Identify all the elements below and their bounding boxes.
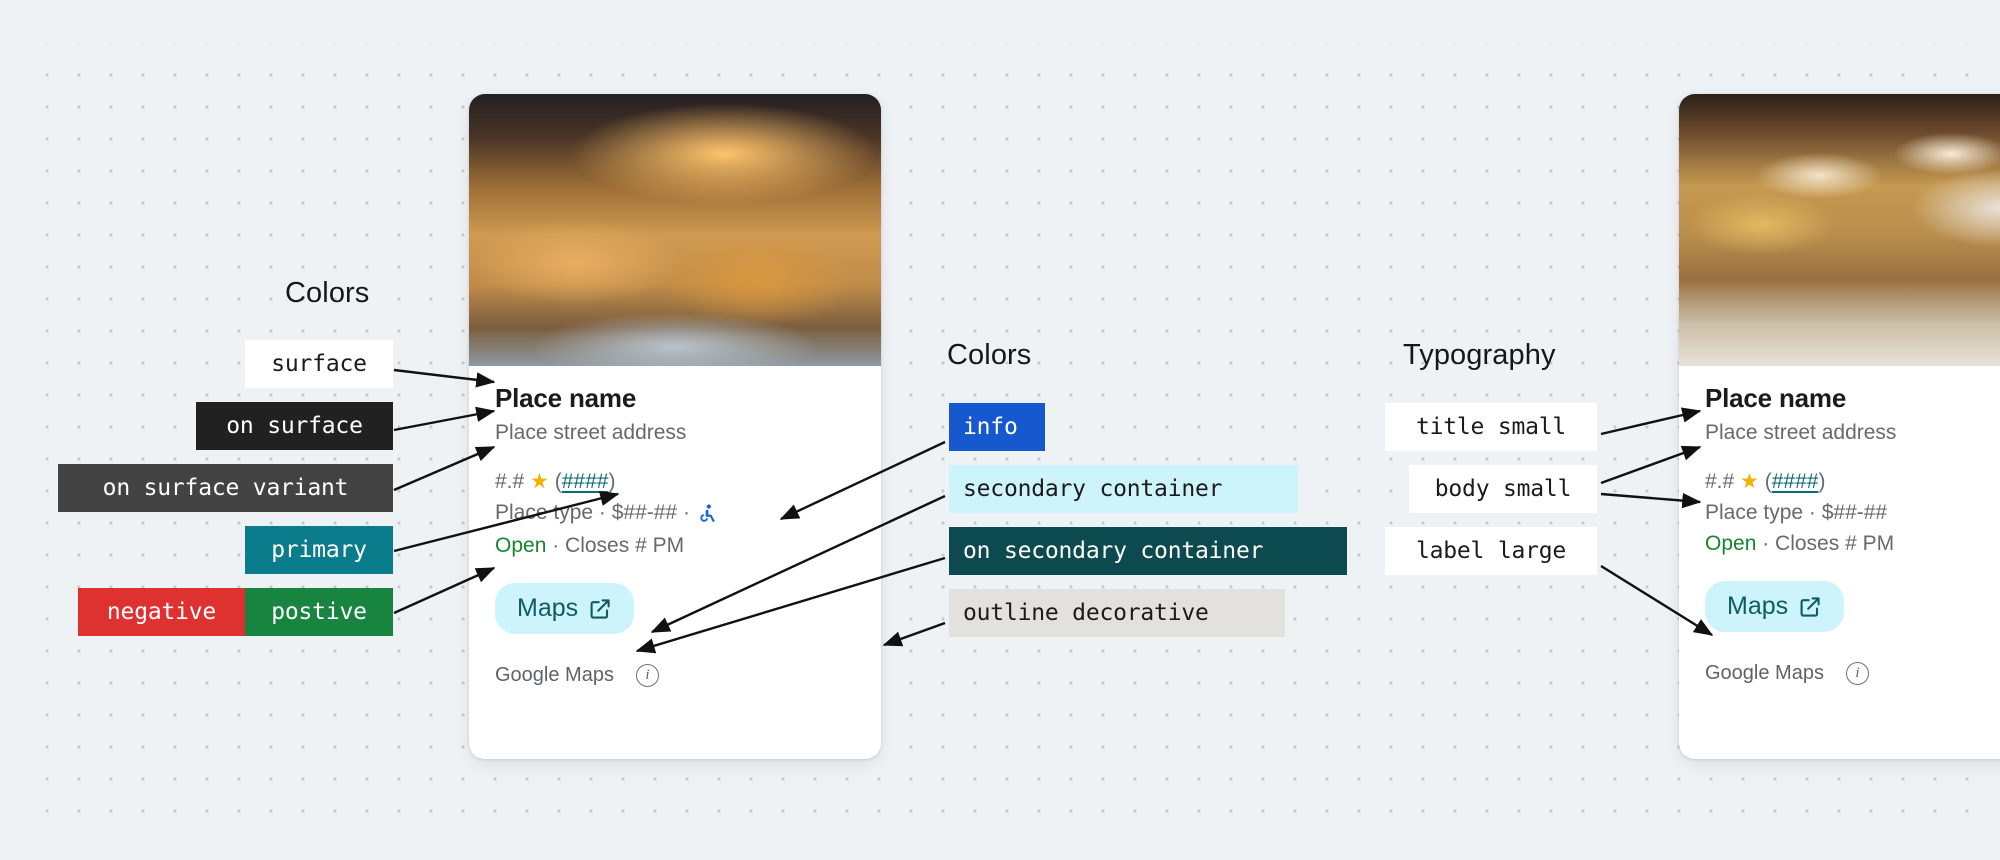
wheelchair-accessible-icon — [696, 503, 718, 526]
color-chip-outline-decorative-label: outline decorative — [963, 602, 1209, 625]
type-chip-body-small[interactable]: body small — [1409, 465, 1597, 513]
color-chip-surface[interactable]: surface — [245, 340, 393, 388]
maps-button-label: Maps — [517, 596, 578, 621]
type-chip-title-small-label: title small — [1416, 416, 1566, 439]
section-title-colors-left: Colors — [285, 277, 369, 310]
color-chip-secondary-container-label: secondary container — [963, 478, 1222, 501]
place-meta-block-right: #.# ★ (####) Place type · $##-## Open · … — [1705, 466, 2000, 559]
place-type-row: Place type · $##-## · — [495, 497, 855, 530]
color-chip-positive[interactable]: postive — [245, 588, 393, 636]
place-name-right: Place name — [1705, 384, 2000, 414]
section-title-colors-mid: Colors — [947, 339, 1031, 372]
place-card-right-photo — [1679, 94, 2000, 366]
type-chip-label-large-label: label large — [1416, 540, 1566, 563]
place-type-text-right: Place type · $##-## — [1705, 501, 1887, 524]
color-chip-positive-label: postive — [271, 601, 367, 624]
place-card-primary: Place name Place street address #.# ★ (#… — [469, 94, 881, 759]
place-type-row-right: Place type · $##-## — [1705, 497, 2000, 528]
color-chip-on-surface-variant-label: on surface variant — [103, 477, 349, 500]
rating-value: #.# — [495, 470, 524, 493]
color-chip-secondary-container[interactable]: secondary container — [949, 465, 1298, 513]
place-address: Place street address — [495, 420, 855, 445]
canvas-bleed-top — [0, 0, 2000, 44]
place-card-footer: Google Maps i — [469, 634, 881, 711]
arrow-outline-decorative — [884, 623, 945, 645]
place-card-photo — [469, 94, 881, 366]
type-chip-title-small[interactable]: title small — [1385, 403, 1597, 451]
hours-separator: · — [546, 534, 565, 557]
type-chip-body-small-label: body small — [1435, 478, 1571, 501]
color-chip-on-secondary-container[interactable]: on secondary container — [949, 527, 1347, 575]
rating-count-link-right[interactable]: #### — [1772, 470, 1819, 493]
place-name: Place name — [495, 384, 855, 414]
maps-button-right[interactable]: Maps — [1705, 581, 1844, 632]
footer-brand-label-right: Google Maps — [1705, 662, 1824, 685]
place-type-text: Place type · $##-## · — [495, 501, 690, 524]
place-hours-row-right: Open · Closes # PM — [1705, 528, 2000, 559]
place-card-right-footer: Google Maps i — [1679, 632, 2000, 709]
rating-count-wrapper-right: (####) — [1765, 470, 1826, 493]
external-link-icon-right — [1798, 595, 1822, 619]
color-chip-outline-decorative[interactable]: outline decorative — [949, 589, 1285, 637]
place-hours-row: Open · Closes # PM — [495, 530, 855, 561]
place-address-right: Place street address — [1705, 420, 2000, 445]
rating-value-right: #.# — [1705, 470, 1734, 493]
place-card-right-body: Place name Place street address #.# ★ (#… — [1679, 366, 2000, 632]
color-chip-info[interactable]: info — [949, 403, 1045, 451]
info-circle-icon-right[interactable]: i — [1846, 662, 1869, 685]
color-chip-negative-label: negative — [107, 601, 216, 624]
canvas-bleed-bottom — [0, 816, 2000, 860]
rating-count-link[interactable]: #### — [562, 470, 609, 493]
maps-button-label-right: Maps — [1727, 594, 1788, 619]
star-icon-right: ★ — [1740, 470, 1759, 493]
place-card-typography: Place name Place street address #.# ★ (#… — [1679, 94, 2000, 759]
color-chip-info-label: info — [963, 416, 1018, 439]
color-chip-on-surface-label: on surface — [226, 415, 362, 438]
color-chip-on-surface[interactable]: on surface — [196, 402, 393, 450]
color-chip-primary[interactable]: primary — [245, 526, 393, 574]
hours-separator-right: · — [1756, 532, 1775, 555]
design-canvas: Colors Colors Typography surface on surf… — [0, 0, 2000, 860]
place-rating-row-right: #.# ★ (####) — [1705, 466, 2000, 497]
color-chip-on-secondary-container-label: on secondary container — [963, 540, 1263, 563]
place-rating-row: #.# ★ (####) — [495, 466, 855, 497]
section-title-typography: Typography — [1403, 339, 1556, 372]
open-status-label: Open — [495, 534, 546, 557]
type-chip-label-large[interactable]: label large — [1385, 527, 1597, 575]
open-status-label-right: Open — [1705, 532, 1756, 555]
closing-time-label: Closes # PM — [565, 534, 684, 557]
rating-count-wrapper: (####) — [555, 470, 616, 493]
info-circle-icon[interactable]: i — [636, 664, 659, 687]
place-card-body: Place name Place street address #.# ★ (#… — [469, 366, 881, 634]
canvas-bleed-left — [0, 0, 46, 860]
place-meta-block: #.# ★ (####) Place type · $##-## · — [495, 466, 855, 561]
color-chip-primary-label: primary — [271, 539, 367, 562]
maps-button[interactable]: Maps — [495, 583, 634, 634]
footer-brand-label: Google Maps — [495, 664, 614, 687]
color-chip-negative[interactable]: negative — [78, 588, 245, 636]
star-icon: ★ — [530, 470, 549, 493]
color-chip-surface-label: surface — [271, 353, 367, 376]
closing-time-label-right: Closes # PM — [1775, 532, 1894, 555]
color-chip-on-surface-variant[interactable]: on surface variant — [58, 464, 393, 512]
external-link-icon — [588, 597, 612, 621]
